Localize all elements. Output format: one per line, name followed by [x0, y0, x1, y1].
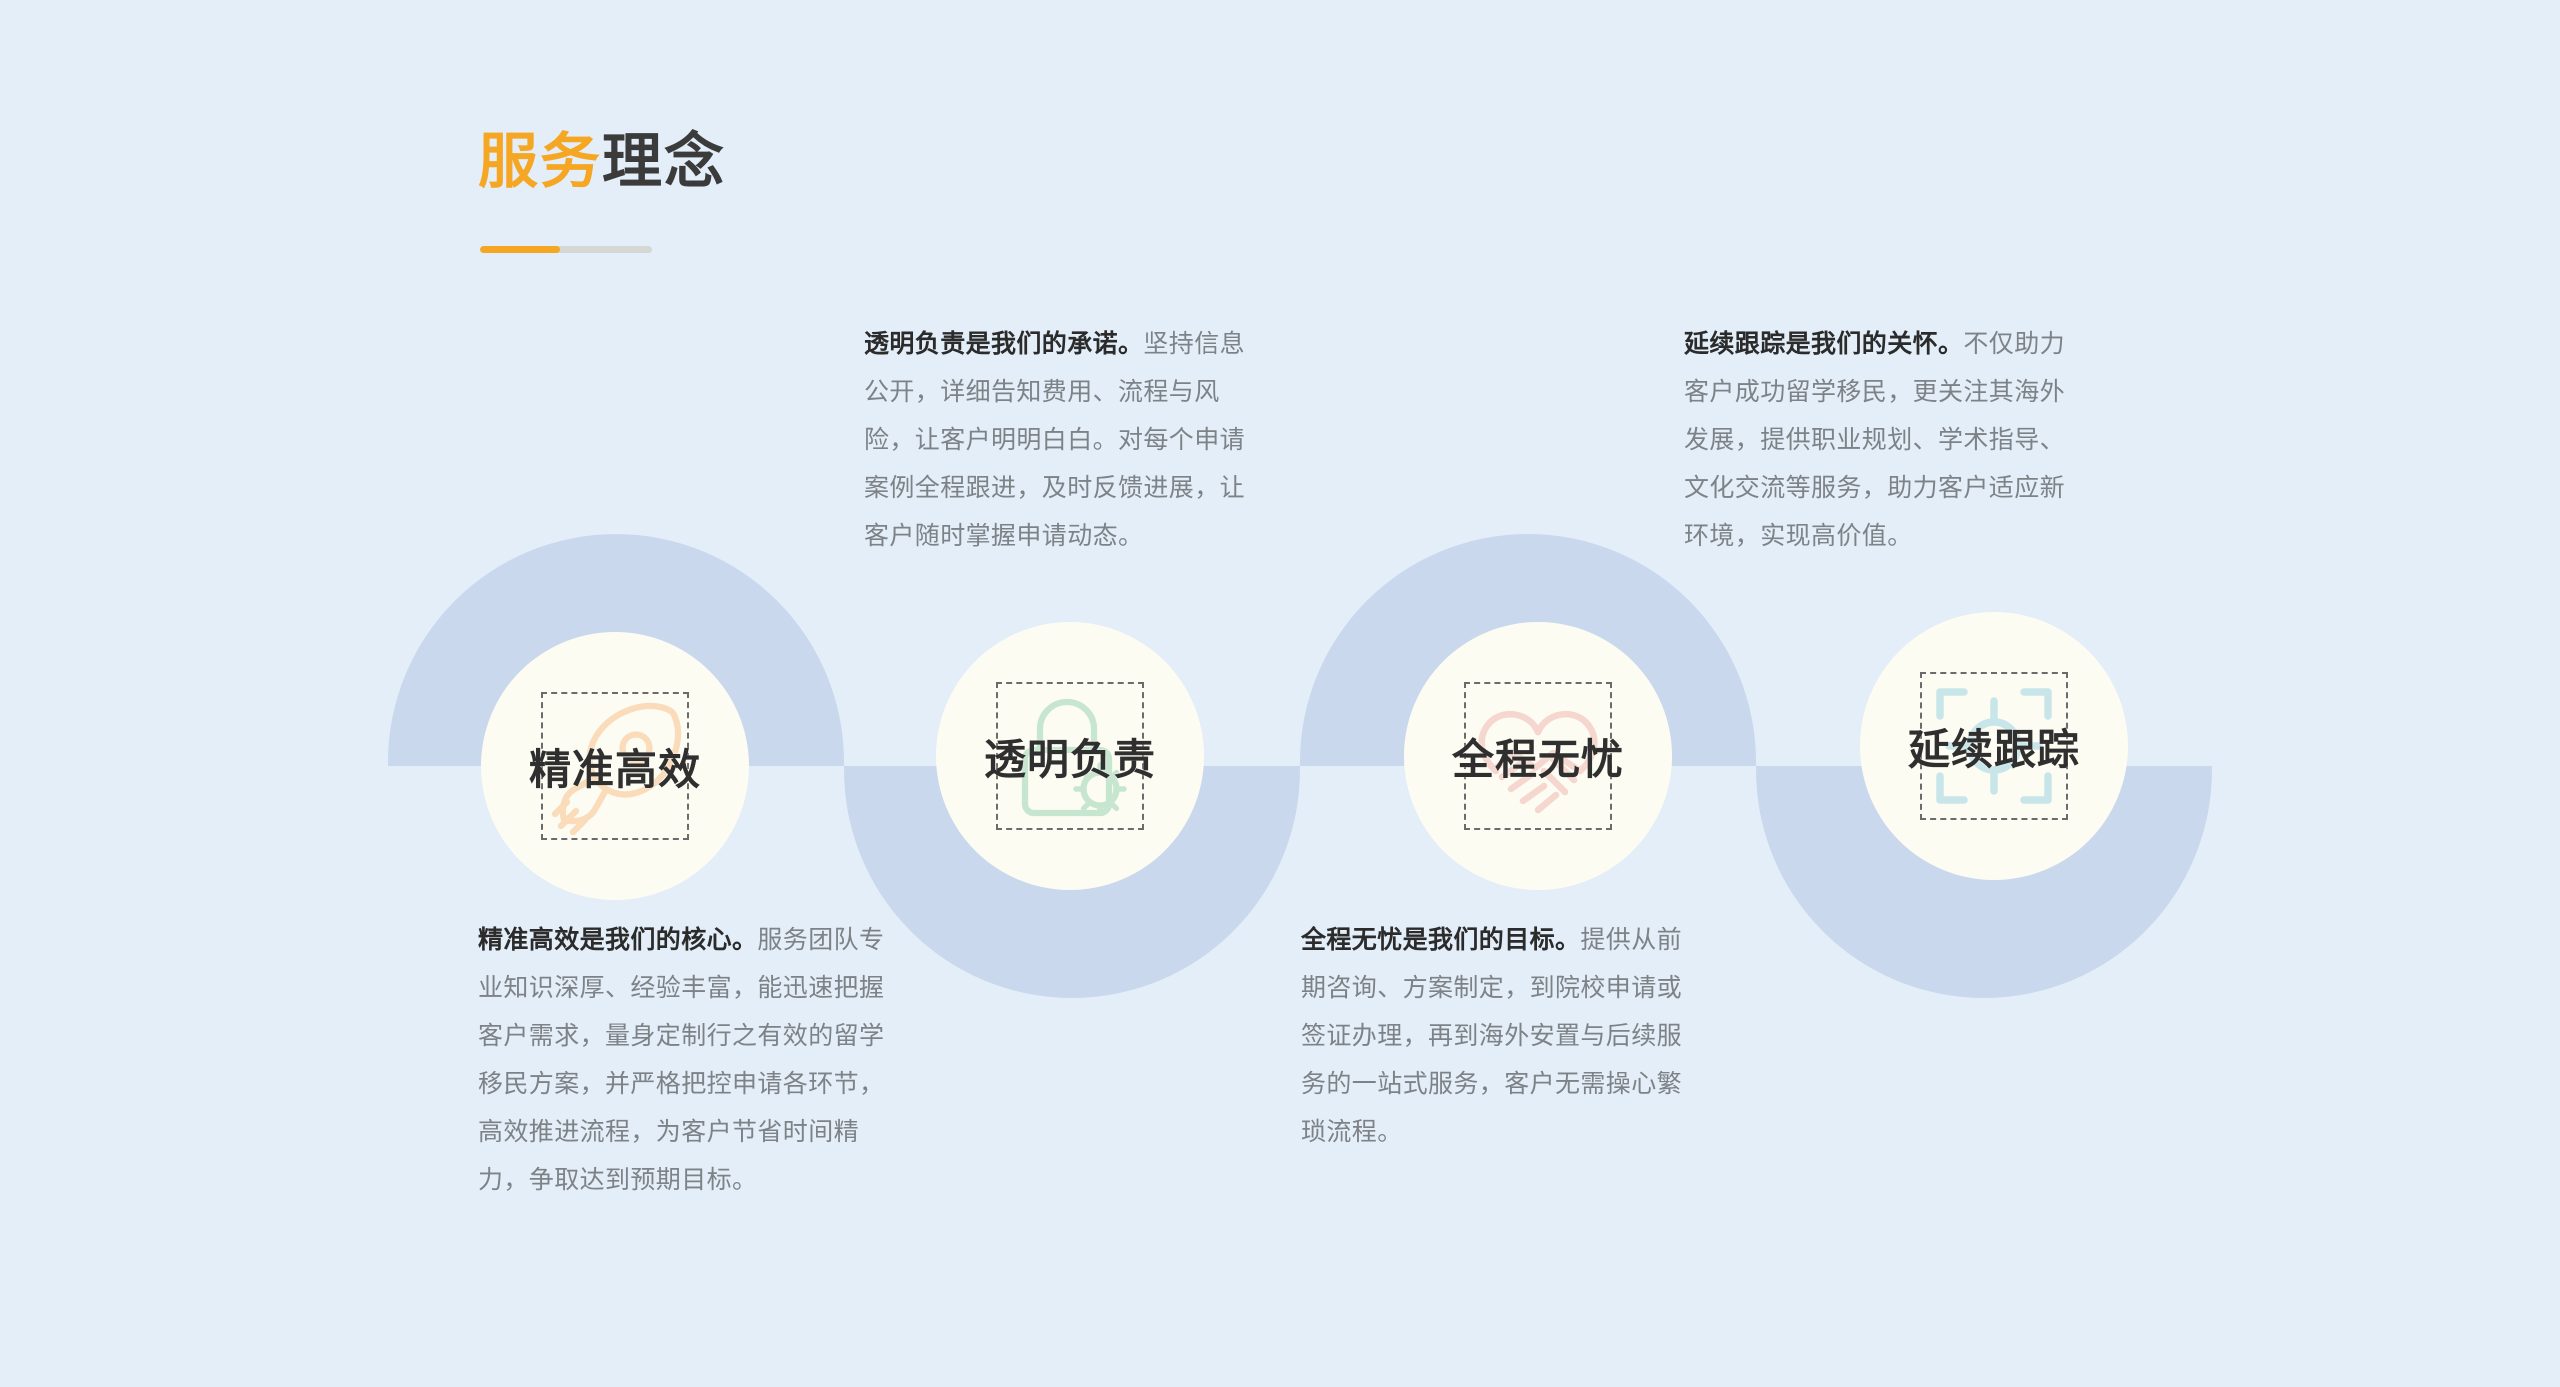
blurb-3-lead: 全程无忧是我们的目标。	[1301, 926, 1580, 954]
blurb-2: 透明负责是我们的承诺。坚持信息公开，详细告知费用、流程与风险，让客户明明白白。对…	[864, 320, 1264, 560]
node-frame-1: 精准高效	[541, 692, 689, 840]
node-circle-2[interactable]: 透明负责	[936, 622, 1204, 890]
node-circle-4[interactable]: 延续跟踪	[1860, 612, 2128, 880]
node-label-1: 精准高效	[529, 736, 701, 797]
node-frame-3: 全程无忧	[1464, 682, 1612, 830]
node-label-3: 全程无忧	[1452, 726, 1624, 787]
page-title-accent: 服务	[478, 128, 602, 195]
service-philosophy-section: 服务理念 精准高效	[0, 0, 2560, 1387]
blurb-4: 延续跟踪是我们的关怀。不仅助力客户成功留学移民，更关注其海外发展，提供职业规划、…	[1684, 320, 2084, 560]
node-label-2: 透明负责	[984, 726, 1156, 787]
node-circle-3[interactable]: 全程无忧	[1404, 622, 1672, 890]
title-underline-fill	[480, 246, 560, 253]
node-frame-2: 透明负责	[996, 682, 1144, 830]
node-frame-4: 延续跟踪	[1920, 672, 2068, 820]
blurb-1-lead: 精准高效是我们的核心。	[478, 926, 757, 954]
page-title-rest: 理念	[602, 128, 726, 195]
page-title: 服务理念	[478, 130, 726, 193]
background-wave	[0, 0, 2560, 1387]
blurb-3: 全程无忧是我们的目标。提供从前期咨询、方案制定，到院校申请或签证办理，再到海外安…	[1301, 916, 1699, 1156]
node-circle-1[interactable]: 精准高效	[481, 632, 749, 900]
blurb-3-body: 提供从前期咨询、方案制定，到院校申请或签证办理，再到海外安置与后续服务的一站式服…	[1301, 926, 1682, 1146]
blurb-1: 精准高效是我们的核心。服务团队专业知识深厚、经验丰富，能迅速把握客户需求，量身定…	[478, 916, 888, 1204]
blurb-4-body: 不仅助力客户成功留学移民，更关注其海外发展，提供职业规划、学术指导、文化交流等服…	[1684, 330, 2065, 550]
blurb-4-lead: 延续跟踪是我们的关怀。	[1684, 330, 1963, 358]
blurb-2-lead: 透明负责是我们的承诺。	[864, 330, 1143, 358]
title-underline	[480, 246, 652, 253]
blurb-2-body: 坚持信息公开，详细告知费用、流程与风险，让客户明明白白。对每个申请案例全程跟进，…	[864, 330, 1245, 550]
blurb-1-body: 服务团队专业知识深厚、经验丰富，能迅速把握客户需求，量身定制行之有效的留学移民方…	[478, 926, 884, 1194]
node-label-4: 延续跟踪	[1908, 716, 2080, 777]
section-header: 服务理念	[478, 130, 726, 193]
